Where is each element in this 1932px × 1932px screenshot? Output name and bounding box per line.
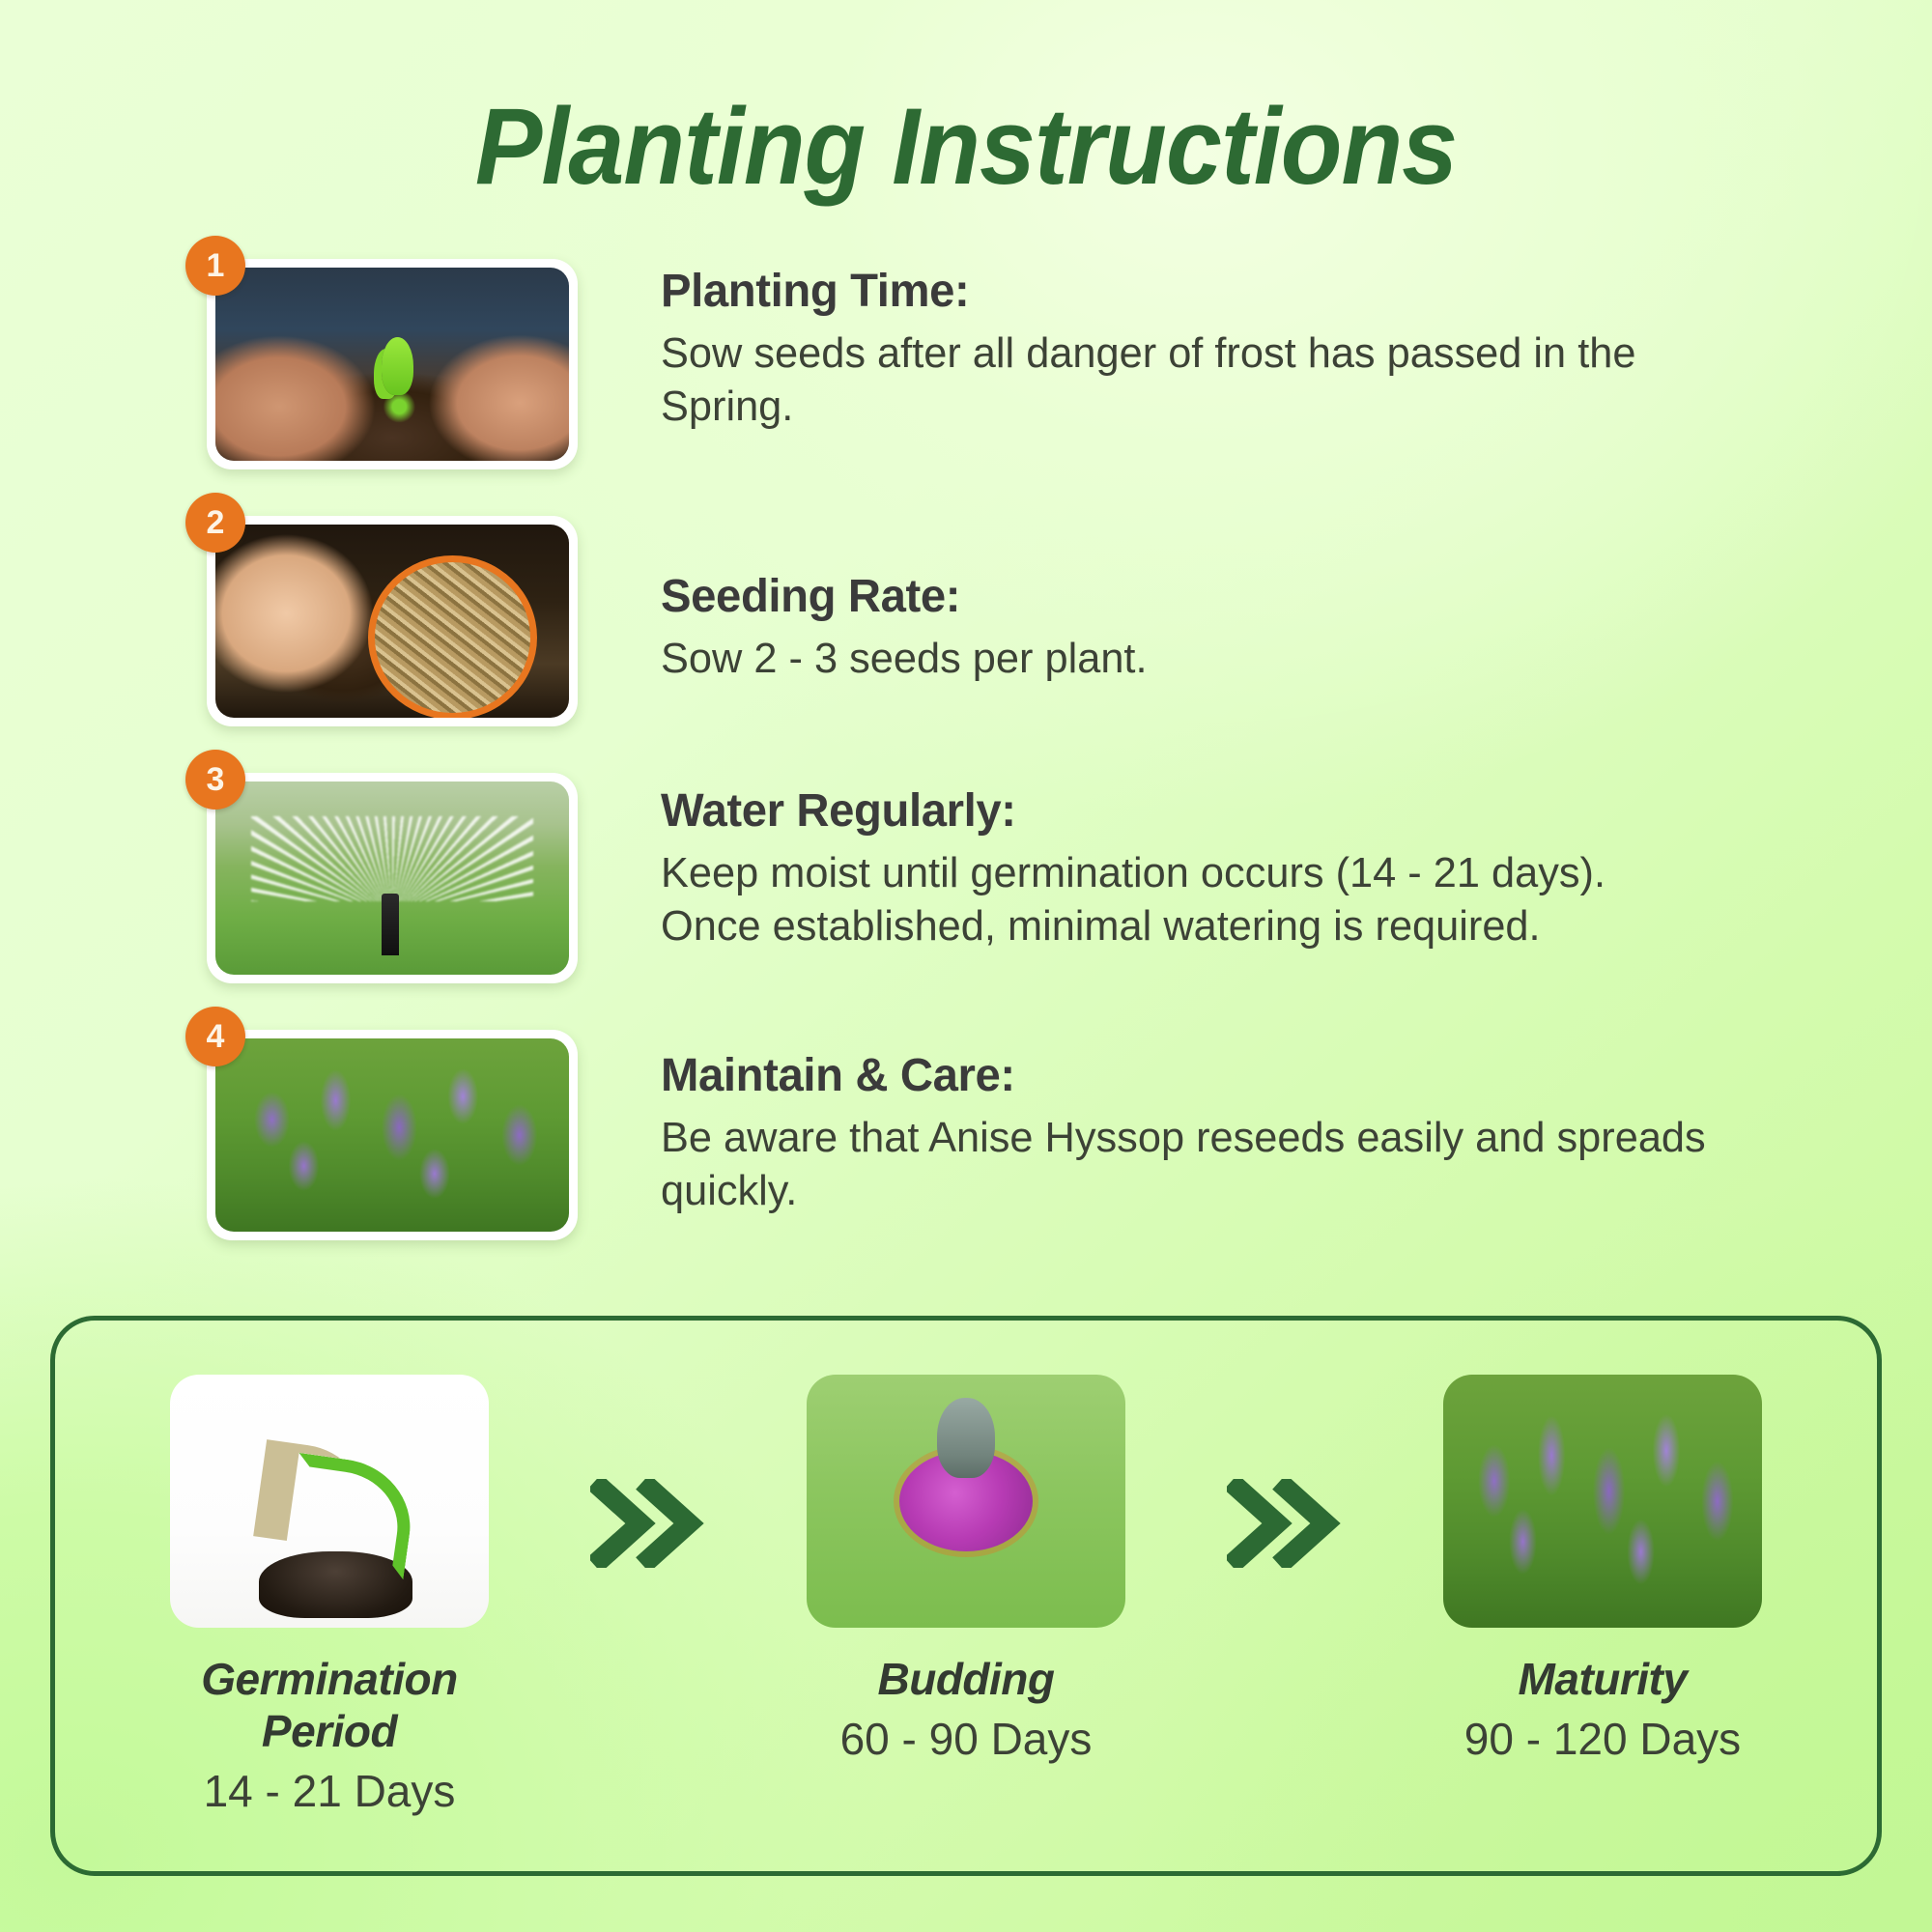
- mature-anise-hyssop-photo: [1443, 1375, 1762, 1628]
- step-number-badge-1: 1: [185, 236, 245, 296]
- step-3-text: Water Regularly: Keep moist until germin…: [578, 773, 1620, 952]
- step-2-heading: Seeding Rate:: [661, 570, 1148, 623]
- step-number-badge-4: 4: [185, 1007, 245, 1066]
- timeline-stage-budding: Budding 60 - 90 Days: [782, 1375, 1150, 1765]
- step-item-2: 2 Seeding Rate: Sow 2 - 3 seeds per plan…: [207, 516, 1849, 726]
- step-1-thumb-wrap: 1: [207, 259, 578, 469]
- timeline-stage-days-2: 60 - 90 Days: [782, 1713, 1150, 1765]
- lawn-sprinkler-watering-photo: [215, 781, 569, 975]
- anise-hyssop-field-photo: [215, 1038, 569, 1232]
- step-4-heading: Maintain & Care:: [661, 1049, 1706, 1102]
- step-4-thumbnail: [207, 1030, 578, 1240]
- timeline-stage-label-2: Budding: [782, 1653, 1150, 1705]
- double-chevron-right-icon: [585, 1479, 711, 1568]
- step-1-body: Sow seeds after all danger of frost has …: [661, 327, 1635, 433]
- timeline-stage-label-1: Germination Period: [146, 1653, 513, 1757]
- step-4-text: Maintain & Care: Be aware that Anise Hys…: [578, 1030, 1721, 1217]
- growth-timeline-row: Germination Period 14 - 21 Days Budding …: [55, 1321, 1877, 1871]
- timeline-stage-days-1: 14 - 21 Days: [146, 1765, 513, 1817]
- hand-sowing-seeds-photo: [215, 525, 569, 718]
- step-2-body: Sow 2 - 3 seeds per plant.: [661, 632, 1148, 685]
- timeline-stage-germination: Germination Period 14 - 21 Days: [146, 1375, 513, 1817]
- step-1-text: Planting Time: Sow seeds after all dange…: [578, 259, 1651, 433]
- timeline-stage-maturity: Maturity 90 - 120 Days: [1419, 1375, 1786, 1765]
- step-item-4: 4 Maintain & Care: Be aware that Anise H…: [207, 1030, 1849, 1240]
- step-1-heading: Planting Time:: [661, 265, 1635, 318]
- step-1-thumbnail: [207, 259, 578, 469]
- infographic-page: Planting Instructions 1 Planting Time: S…: [0, 0, 1932, 1932]
- timeline-stage-days-3: 90 - 120 Days: [1419, 1713, 1786, 1765]
- step-4-thumb-wrap: 4: [207, 1030, 578, 1240]
- purple-bud-flower-photo: [807, 1375, 1125, 1628]
- step-number-badge-2: 2: [185, 493, 245, 553]
- step-3-thumbnail: [207, 773, 578, 983]
- double-chevron-right-icon-2: [1222, 1479, 1348, 1568]
- steps-list: 1 Planting Time: Sow seeds after all dan…: [207, 259, 1849, 1287]
- step-number-badge-3: 3: [185, 750, 245, 810]
- germinating-seed-photo: [170, 1375, 489, 1628]
- step-2-thumb-wrap: 2: [207, 516, 578, 726]
- timeline-stage-label-3: Maturity: [1419, 1653, 1786, 1705]
- step-4-body: Be aware that Anise Hyssop reseeds easil…: [661, 1111, 1706, 1217]
- step-3-body: Keep moist until germination occurs (14 …: [661, 846, 1605, 952]
- step-item-1: 1 Planting Time: Sow seeds after all dan…: [207, 259, 1849, 469]
- hands-holding-soil-sprout-photo: [215, 268, 569, 461]
- step-3-heading: Water Regularly:: [661, 784, 1605, 838]
- growth-timeline-panel: Germination Period 14 - 21 Days Budding …: [50, 1316, 1882, 1876]
- step-item-3: 3 Water Regularly: Keep moist until germ…: [207, 773, 1849, 983]
- page-title: Planting Instructions: [68, 93, 1864, 201]
- step-3-thumb-wrap: 3: [207, 773, 578, 983]
- step-2-text: Seeding Rate: Sow 2 - 3 seeds per plant.: [578, 516, 1154, 685]
- step-2-thumbnail: [207, 516, 578, 726]
